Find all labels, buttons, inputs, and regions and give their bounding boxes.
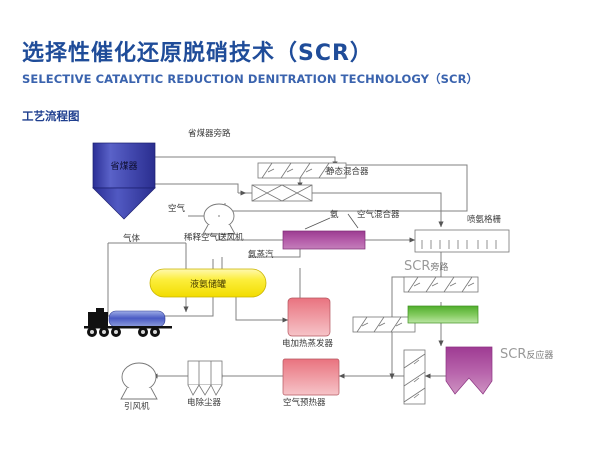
economizer-label: 省煤器 [110,160,137,172]
equipment-scr-bypass-damper[interactable] [404,277,478,292]
id-fan-base [121,388,157,399]
static-mixer-body[interactable] [252,185,312,201]
equipment-outlet-damper[interactable] [404,350,425,404]
truck-cab [88,312,108,328]
equipment-bypass-flow-damper[interactable] [353,317,415,332]
id-fan-casing[interactable] [122,363,156,391]
scr-reactor-body[interactable] [446,347,492,394]
label-air-preheater: 空气预热器 [283,399,326,408]
label-induced-draft-fan: 引风机 [124,403,150,412]
label-static-mixer: 静态混合器 [326,168,369,177]
esp-body[interactable] [188,361,222,385]
electric-evaporator-body[interactable] [288,298,330,336]
equipment-ammonia-injection-grid[interactable] [415,230,509,252]
label-air-mixer: 空气混合器 [357,211,400,220]
truck-tank [109,311,165,327]
label-scr-bypass-sub: 旁路 [430,263,448,273]
dilution-fan-hub [218,215,220,217]
equipment-liquid-ammonia-tank[interactable]: 液氨储罐 [150,269,266,297]
label-scr-bypass-main: SCR [404,259,430,274]
equipment-induced-draft-fan[interactable] [121,363,157,399]
equipment-ammonia-air-mixer[interactable] [283,214,365,249]
truck-chassis [84,326,172,329]
slide-canvas: 选择性催化还原脱硝技术（SCR） SELECTIVE CATALYTIC RED… [0,0,600,450]
ammonia-air-mixer-body[interactable] [283,231,365,249]
equipment-electric-evaporator[interactable] [288,298,330,336]
equipment-scr-reactor[interactable] [446,347,492,394]
label-scr-reactor-main: SCR [500,347,526,362]
pipe-economizer-out [155,184,238,193]
pipe-tank-to-truck [186,296,213,316]
ammonia-mixer-leader [305,218,330,229]
economizer-hopper[interactable] [93,188,155,219]
pipe-tank-to-evaporator [236,296,288,320]
outlet-damper-body[interactable] [404,350,425,404]
equipment-economizer[interactable]: 省煤器 [93,143,155,219]
label-gas: 气体 [123,235,140,244]
label-ammonia: 氨 [330,211,339,220]
label-electric-evaporator: 电加热蒸发器 [282,340,333,349]
equipment-air-preheater[interactable] [283,359,339,395]
ammonia-tank-label: 液氨储罐 [190,278,226,290]
label-scr-reactor: SCR反应器 [500,348,553,361]
label-scr-reactor-sub: 反应器 [526,351,553,361]
equipment-dilution-air-fan[interactable] [203,204,235,234]
label-ammonia-injection-grid: 喷氨格栅 [467,216,501,225]
catalyst-layer-body[interactable] [408,306,478,323]
air-preheater-body[interactable] [283,359,339,395]
esp-hoppers [188,385,222,395]
label-economizer-bypass: 省煤器旁路 [188,130,231,139]
equipment-static-mixer[interactable] [252,185,312,201]
label-electrostatic-precipitator: 电除尘器 [187,399,221,408]
equipment-catalyst-layer[interactable] [408,306,478,323]
equipment-electrostatic-precipitator[interactable] [188,361,222,395]
equipment-ammonia-tanker-truck[interactable] [84,308,172,337]
label-scr-bypass: SCR旁路 [404,260,448,273]
aig-body[interactable] [415,230,509,252]
truck-exhaust [96,308,104,314]
label-ammonia-vapor: 氨蒸汽 [248,251,274,260]
label-air: 空气 [168,205,185,214]
scr-process-flow-diagram: 省煤器 [0,0,600,450]
label-dilution-air-fan: 稀释空气送风机 [184,234,244,243]
